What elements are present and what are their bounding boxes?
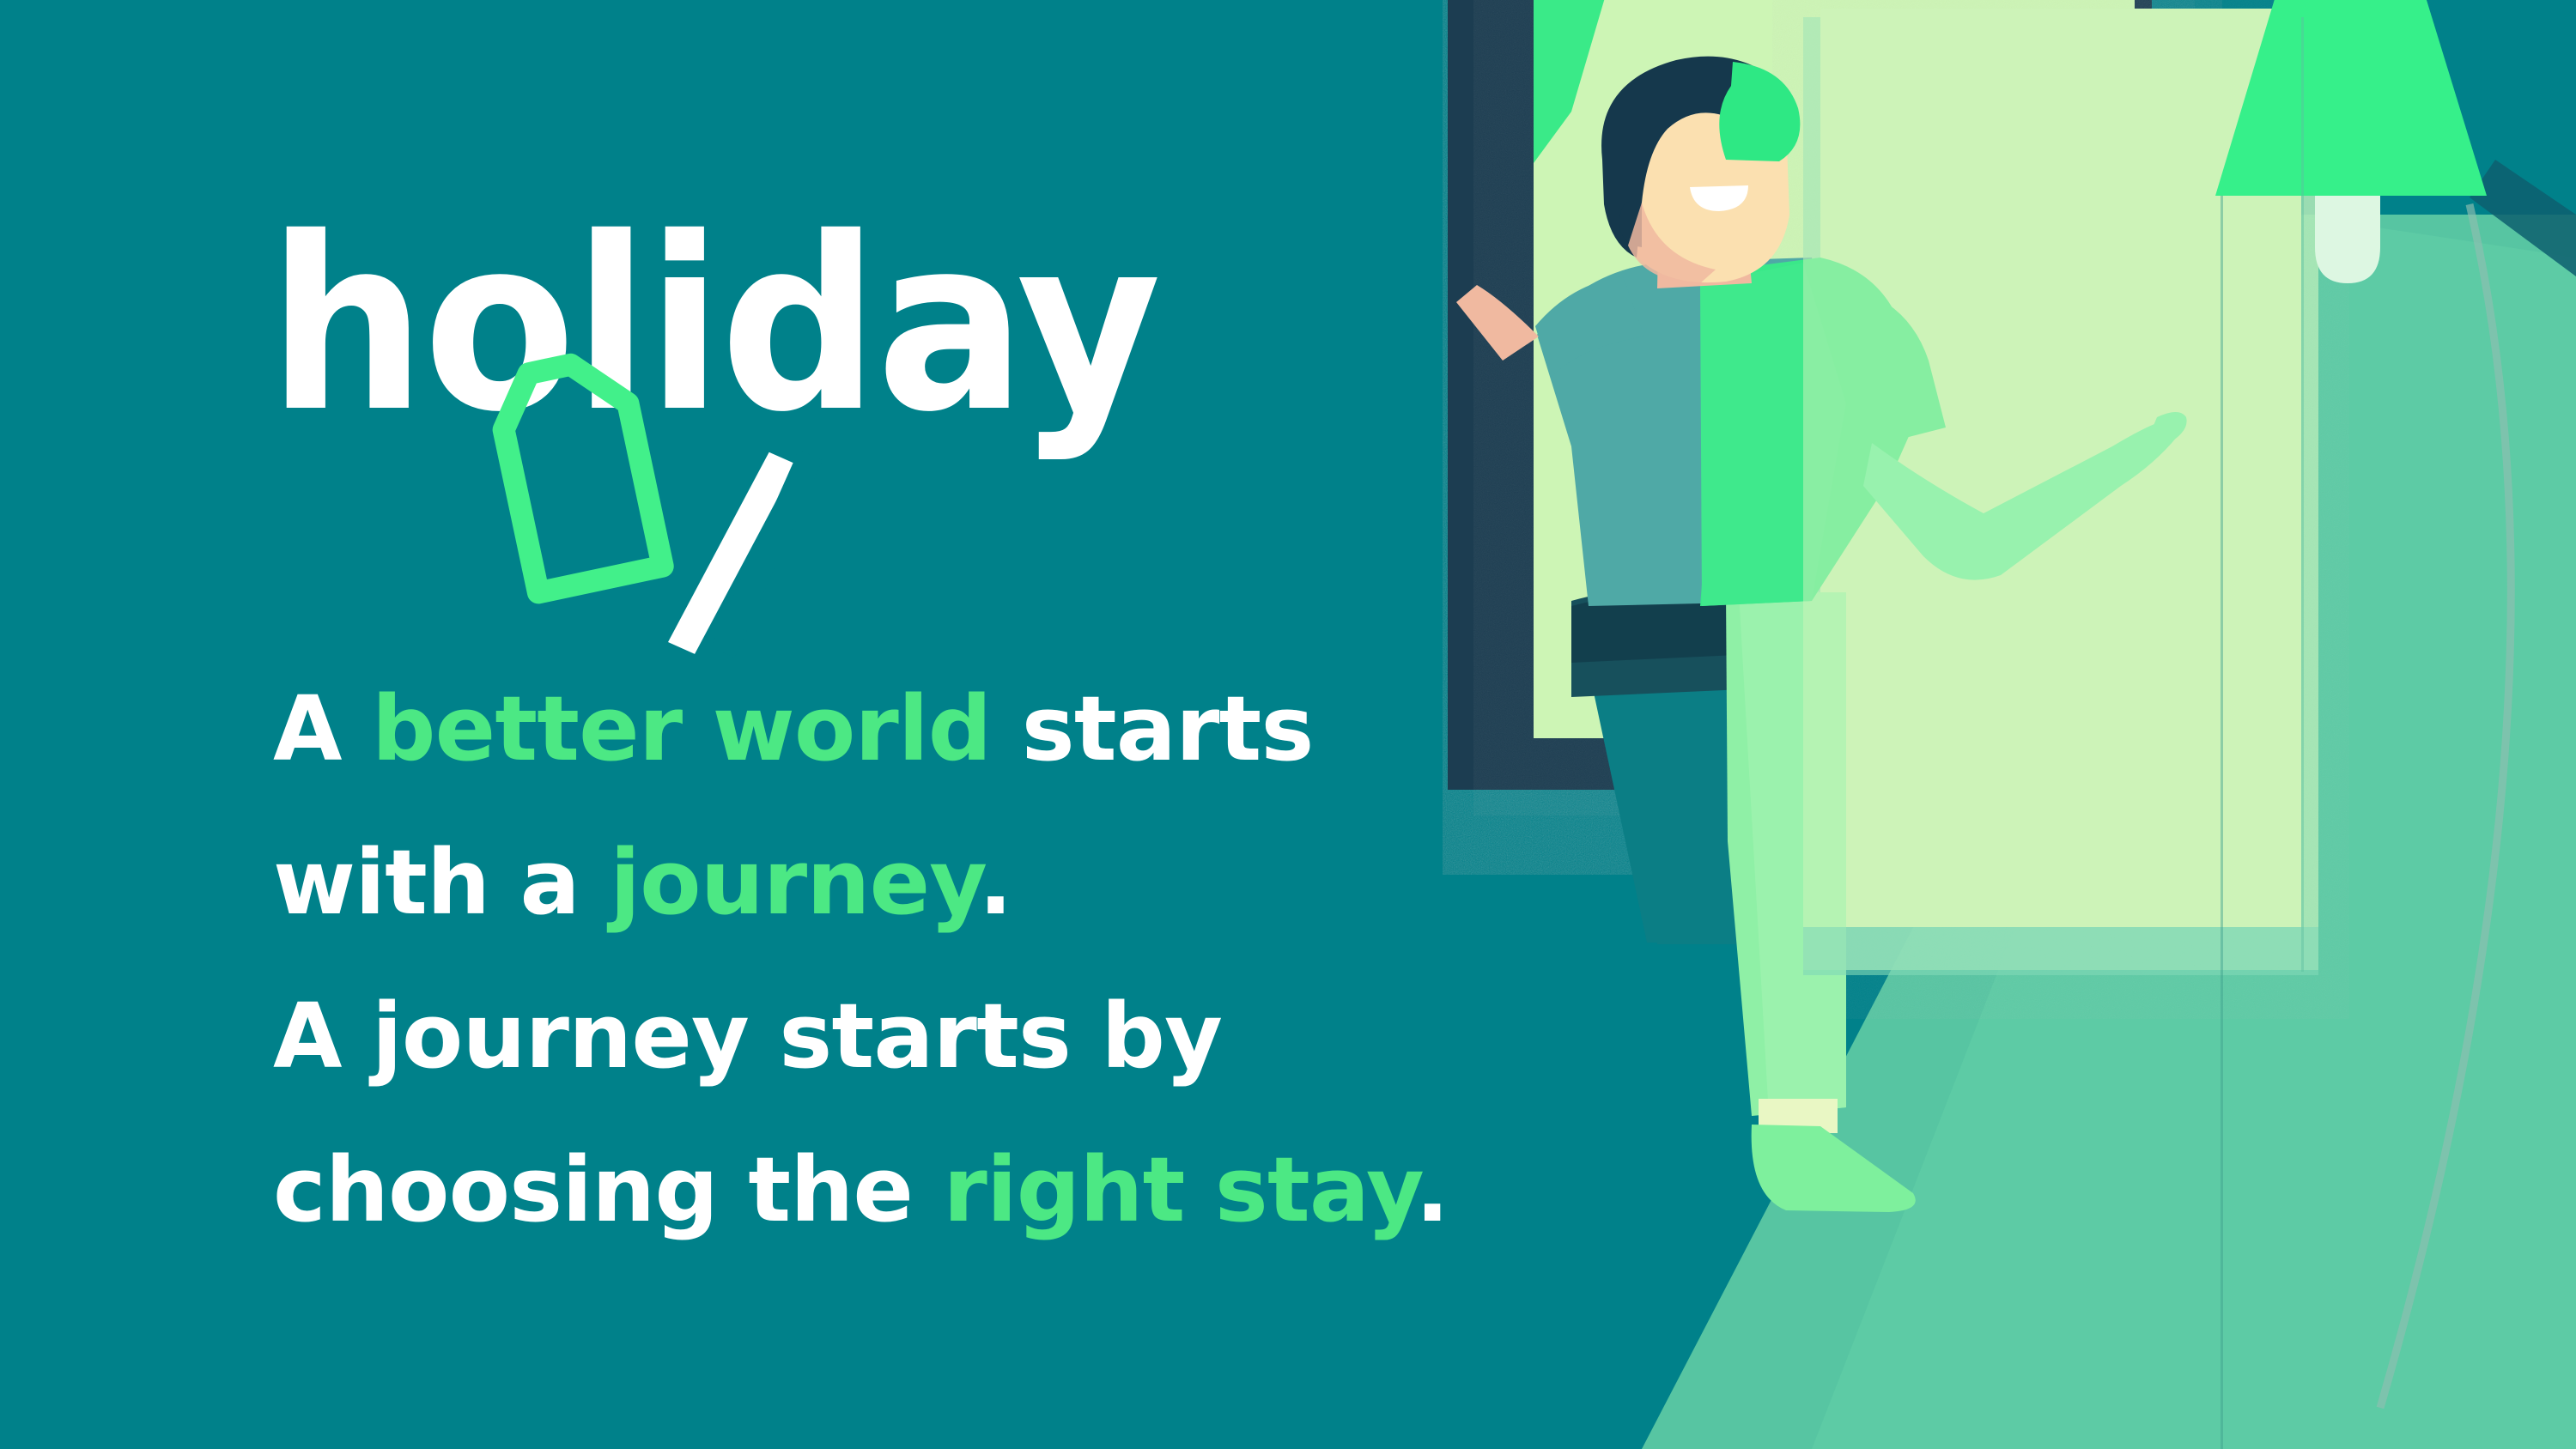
tagline-l4-p1: choosing the [273, 1137, 944, 1242]
text-column: holiday A better world starts with a jou… [0, 0, 1477, 1449]
lamp-pole-seam [2221, 196, 2223, 1449]
tagline-l2-p1: with a [273, 830, 610, 935]
brand-logo: holiday [268, 206, 1212, 635]
luggage-tag-icon [474, 335, 697, 618]
tagline-l2-p2: . [979, 830, 1012, 935]
illustration-svg [1443, 0, 2576, 1449]
brand-wordmark: holiday [268, 206, 1158, 445]
tagline-line-3: A journey starts by [273, 960, 1441, 1113]
poster-canvas: holiday A better world starts with a jou… [0, 0, 2576, 1449]
illustration-hero [1443, 0, 2576, 1449]
tagline-line-1: A better world starts [273, 652, 1441, 806]
tagline-l2-highlight: journey [610, 830, 978, 935]
tagline-line-2: with a journey. [273, 806, 1441, 960]
tagline-l1-highlight: better world [372, 676, 991, 781]
tagline-l3-p1: A journey starts by [273, 984, 1222, 1088]
tagline: A better world starts with a journey. A … [273, 652, 1441, 1267]
tagline-line-4: choosing the right stay. [273, 1113, 1441, 1267]
panel-edge-right [2301, 17, 2304, 972]
tagline-l1-p2: starts [991, 676, 1313, 781]
tagline-l4-highlight: right stay [944, 1137, 1416, 1242]
tagline-l1-p1: A [273, 676, 372, 781]
lamp-bulb [2315, 196, 2380, 283]
tagline-l4-p2: . [1415, 1137, 1449, 1242]
